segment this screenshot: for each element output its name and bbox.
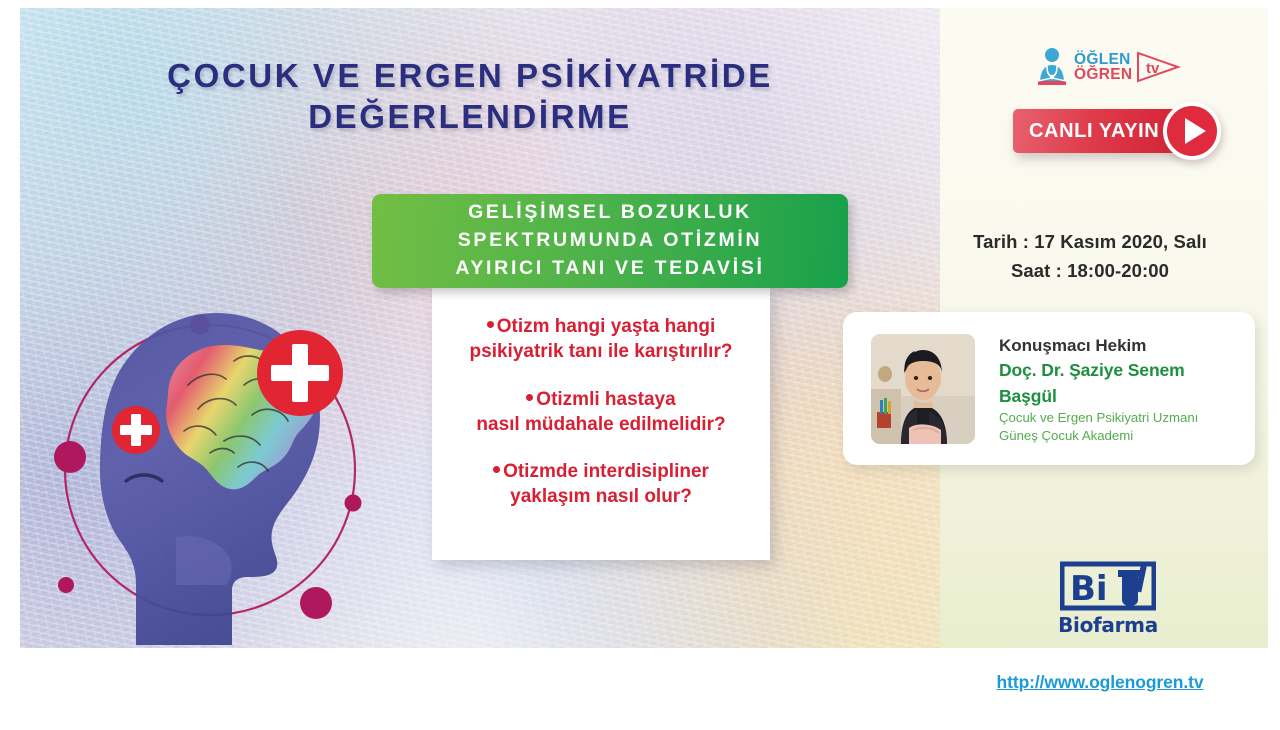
question-line-2: psikiyatrik tanı ile karıştırılır? [450,339,752,364]
live-broadcast-label: CANLI YAYIN [1029,120,1159,143]
event-time: Saat : 18:00-20:00 [940,257,1240,286]
title-line-1: ÇOCUK VE ERGEN PSİKİYATRİDE [20,56,920,97]
questions-card: Otizm hangi yaşta hangi psikiyatrik tanı… [432,288,770,560]
speaker-specialty: Çocuk ve Ergen Psikiyatri Uzmanı [999,409,1241,427]
svg-text:Bi: Bi [1070,569,1108,609]
question-item: Otizmli hastaya nasıl müdahale edilmelid… [450,387,752,438]
title-line-2: DEĞERLENDİRME [20,97,920,138]
website-url-link[interactable]: http://www.oglenogren.tv [940,672,1260,693]
question-item: Otizm hangi yaşta hangi psikiyatrik tanı… [450,314,752,365]
event-date: Tarih : 17 Kasım 2020, Salı [940,228,1240,257]
bullet-icon [487,321,494,328]
doctor-figure-icon [1035,47,1069,87]
webinar-poster: ÇOCUK VE ERGEN PSİKİYATRİDE DEĞERLENDİRM… [0,0,1280,730]
topic-banner-line-3: AYIRICI TANI VE TEDAVİSİ [455,255,764,283]
speaker-name: Doç. Dr. Şaziye Senem Başgül [999,358,1241,409]
svg-text:tv: tv [1146,60,1160,77]
schedule-block: Tarih : 17 Kasım 2020, Salı Saat : 18:00… [940,228,1240,285]
bullet-icon [493,466,500,473]
topic-banner-line-1: GELİŞİMSEL BOZUKLUK [468,199,752,227]
bullet-icon [526,394,533,401]
oglen-ogren-tv-logo[interactable]: ÖĞLEN ÖĞREN tv [1035,42,1185,92]
medical-plus-icon-large [257,330,343,416]
biofarma-mark-icon: Bi [1060,560,1156,612]
question-line-1: Otizm hangi yaşta hangi [497,316,716,337]
play-icon [1185,118,1206,144]
logo-text-ogren: ÖĞREN [1074,67,1132,83]
speaker-details: Konuşmacı Hekim Doç. Dr. Şaziye Senem Ba… [999,333,1241,445]
tv-play-icon: tv [1135,50,1181,84]
speaker-institution: Güneş Çocuk Akademi [999,427,1241,445]
sponsor-logo: Bi Biofarma [1043,560,1173,637]
topic-banner-line-2: SPEKTRUMUNDA OTİZMİN [458,227,763,255]
topic-banner: GELİŞİMSEL BOZUKLUK SPEKTRUMUNDA OTİZMİN… [372,194,848,288]
question-line-1: Otizmli hastaya [536,389,675,410]
live-broadcast-button[interactable]: CANLI YAYIN [1013,109,1181,153]
head-brain-illustration [48,185,378,645]
logo-text-oglen: ÖĞLEN [1074,52,1132,68]
question-item: Otizmde interdisipliner yaklaşım nasıl o… [450,459,752,510]
play-button[interactable] [1163,102,1221,160]
question-line-2: yaklaşım nasıl olur? [450,484,752,509]
question-line-1: Otizmde interdisipliner [503,461,709,482]
speaker-photo [871,334,975,444]
poster-title: ÇOCUK VE ERGEN PSİKİYATRİDE DEĞERLENDİRM… [20,56,920,138]
sponsor-name: Biofarma [1043,613,1173,637]
question-line-2: nasıl müdahale edilmelidir? [450,412,752,437]
medical-plus-icon-small [112,406,160,454]
speaker-role: Konuşmacı Hekim [999,333,1241,359]
speaker-card: Konuşmacı Hekim Doç. Dr. Şaziye Senem Ba… [843,312,1255,465]
